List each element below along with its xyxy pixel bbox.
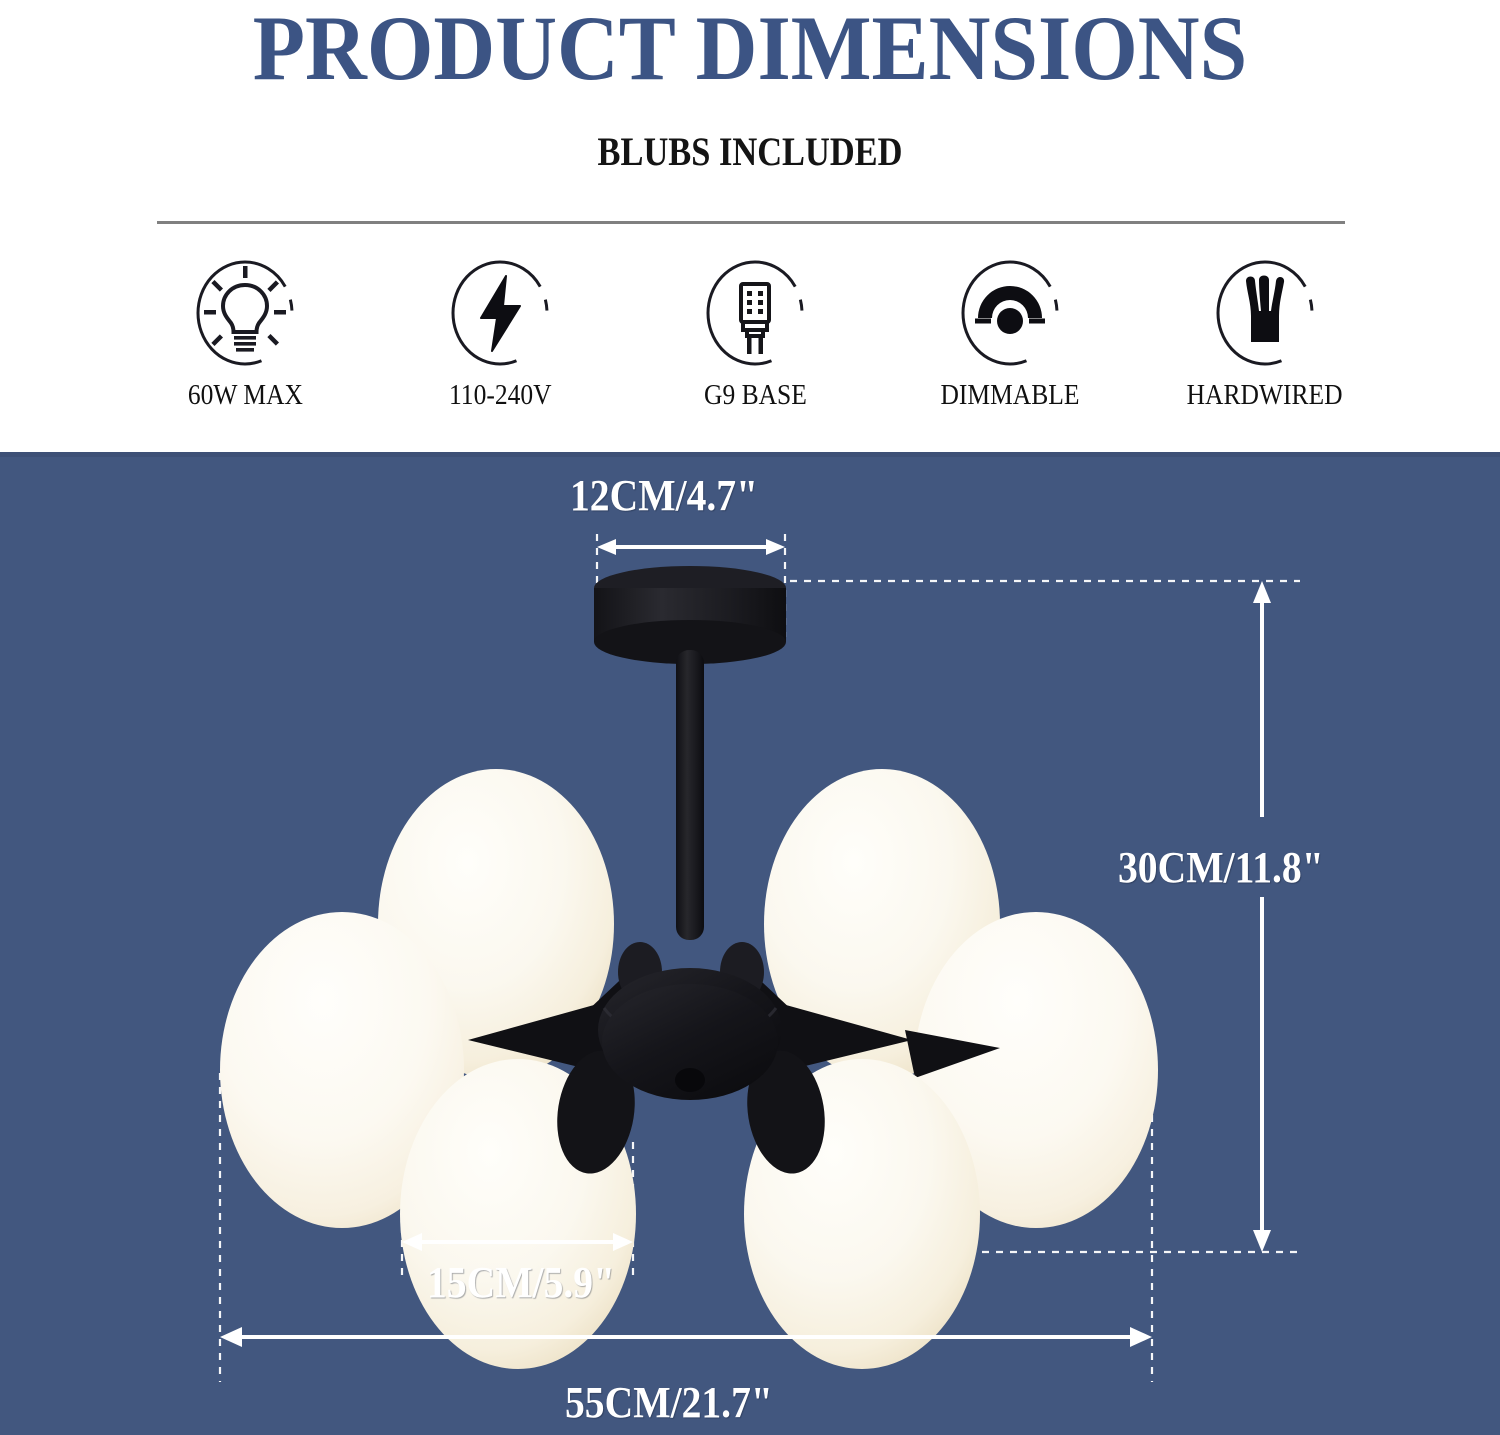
lightning-bolt-icon [448,258,552,368]
feature-wattage: 60W MAX [130,258,360,412]
hardwire-cable-icon [1213,258,1317,368]
header-divider [157,221,1345,224]
dimmer-dial-icon [958,258,1062,368]
dimension-label-globe-width: 15CM/5.9" [427,1257,615,1308]
dimension-diagram-panel: 12CM/4.7" 30CM/11.8" 15CM/5.9" 55CM/21.7… [0,452,1500,1435]
fixture-illustration [0,452,1500,1435]
feature-icon-row: 60W MAX 110-240V [130,258,1380,428]
feature-label: 60W MAX [187,379,302,412]
dimension-label-canopy-width: 12CM/4.7" [570,470,758,521]
ceiling-canopy [594,566,786,664]
dimension-label-overall-width: 55CM/21.7" [565,1377,773,1428]
feature-label: G9 BASE [704,379,807,412]
g9-bulb-base-icon [703,258,807,368]
subtitle: BLUBS INCLUDED [105,128,1395,175]
header-section: PRODUCT DIMENSIONS BLUBS INCLUDED [0,0,1500,452]
feature-voltage: 110-240V [385,258,615,412]
feature-label: DIMMABLE [941,379,1080,412]
feature-base: G9 BASE [640,258,870,412]
feature-hardwired: HARDWIRED [1150,258,1380,412]
feature-label: 110-240V [449,379,552,412]
dimension-label-fixture-height: 30CM/11.8" [1118,842,1324,893]
lightbulb-icon [193,258,297,368]
feature-label: HARDWIRED [1187,379,1343,412]
downrod [676,650,704,940]
feature-dimmable: DIMMABLE [895,258,1125,412]
product-dimensions-infographic: PRODUCT DIMENSIONS BLUBS INCLUDED [0,0,1500,1435]
page-title: PRODUCT DIMENSIONS [53,2,1448,94]
